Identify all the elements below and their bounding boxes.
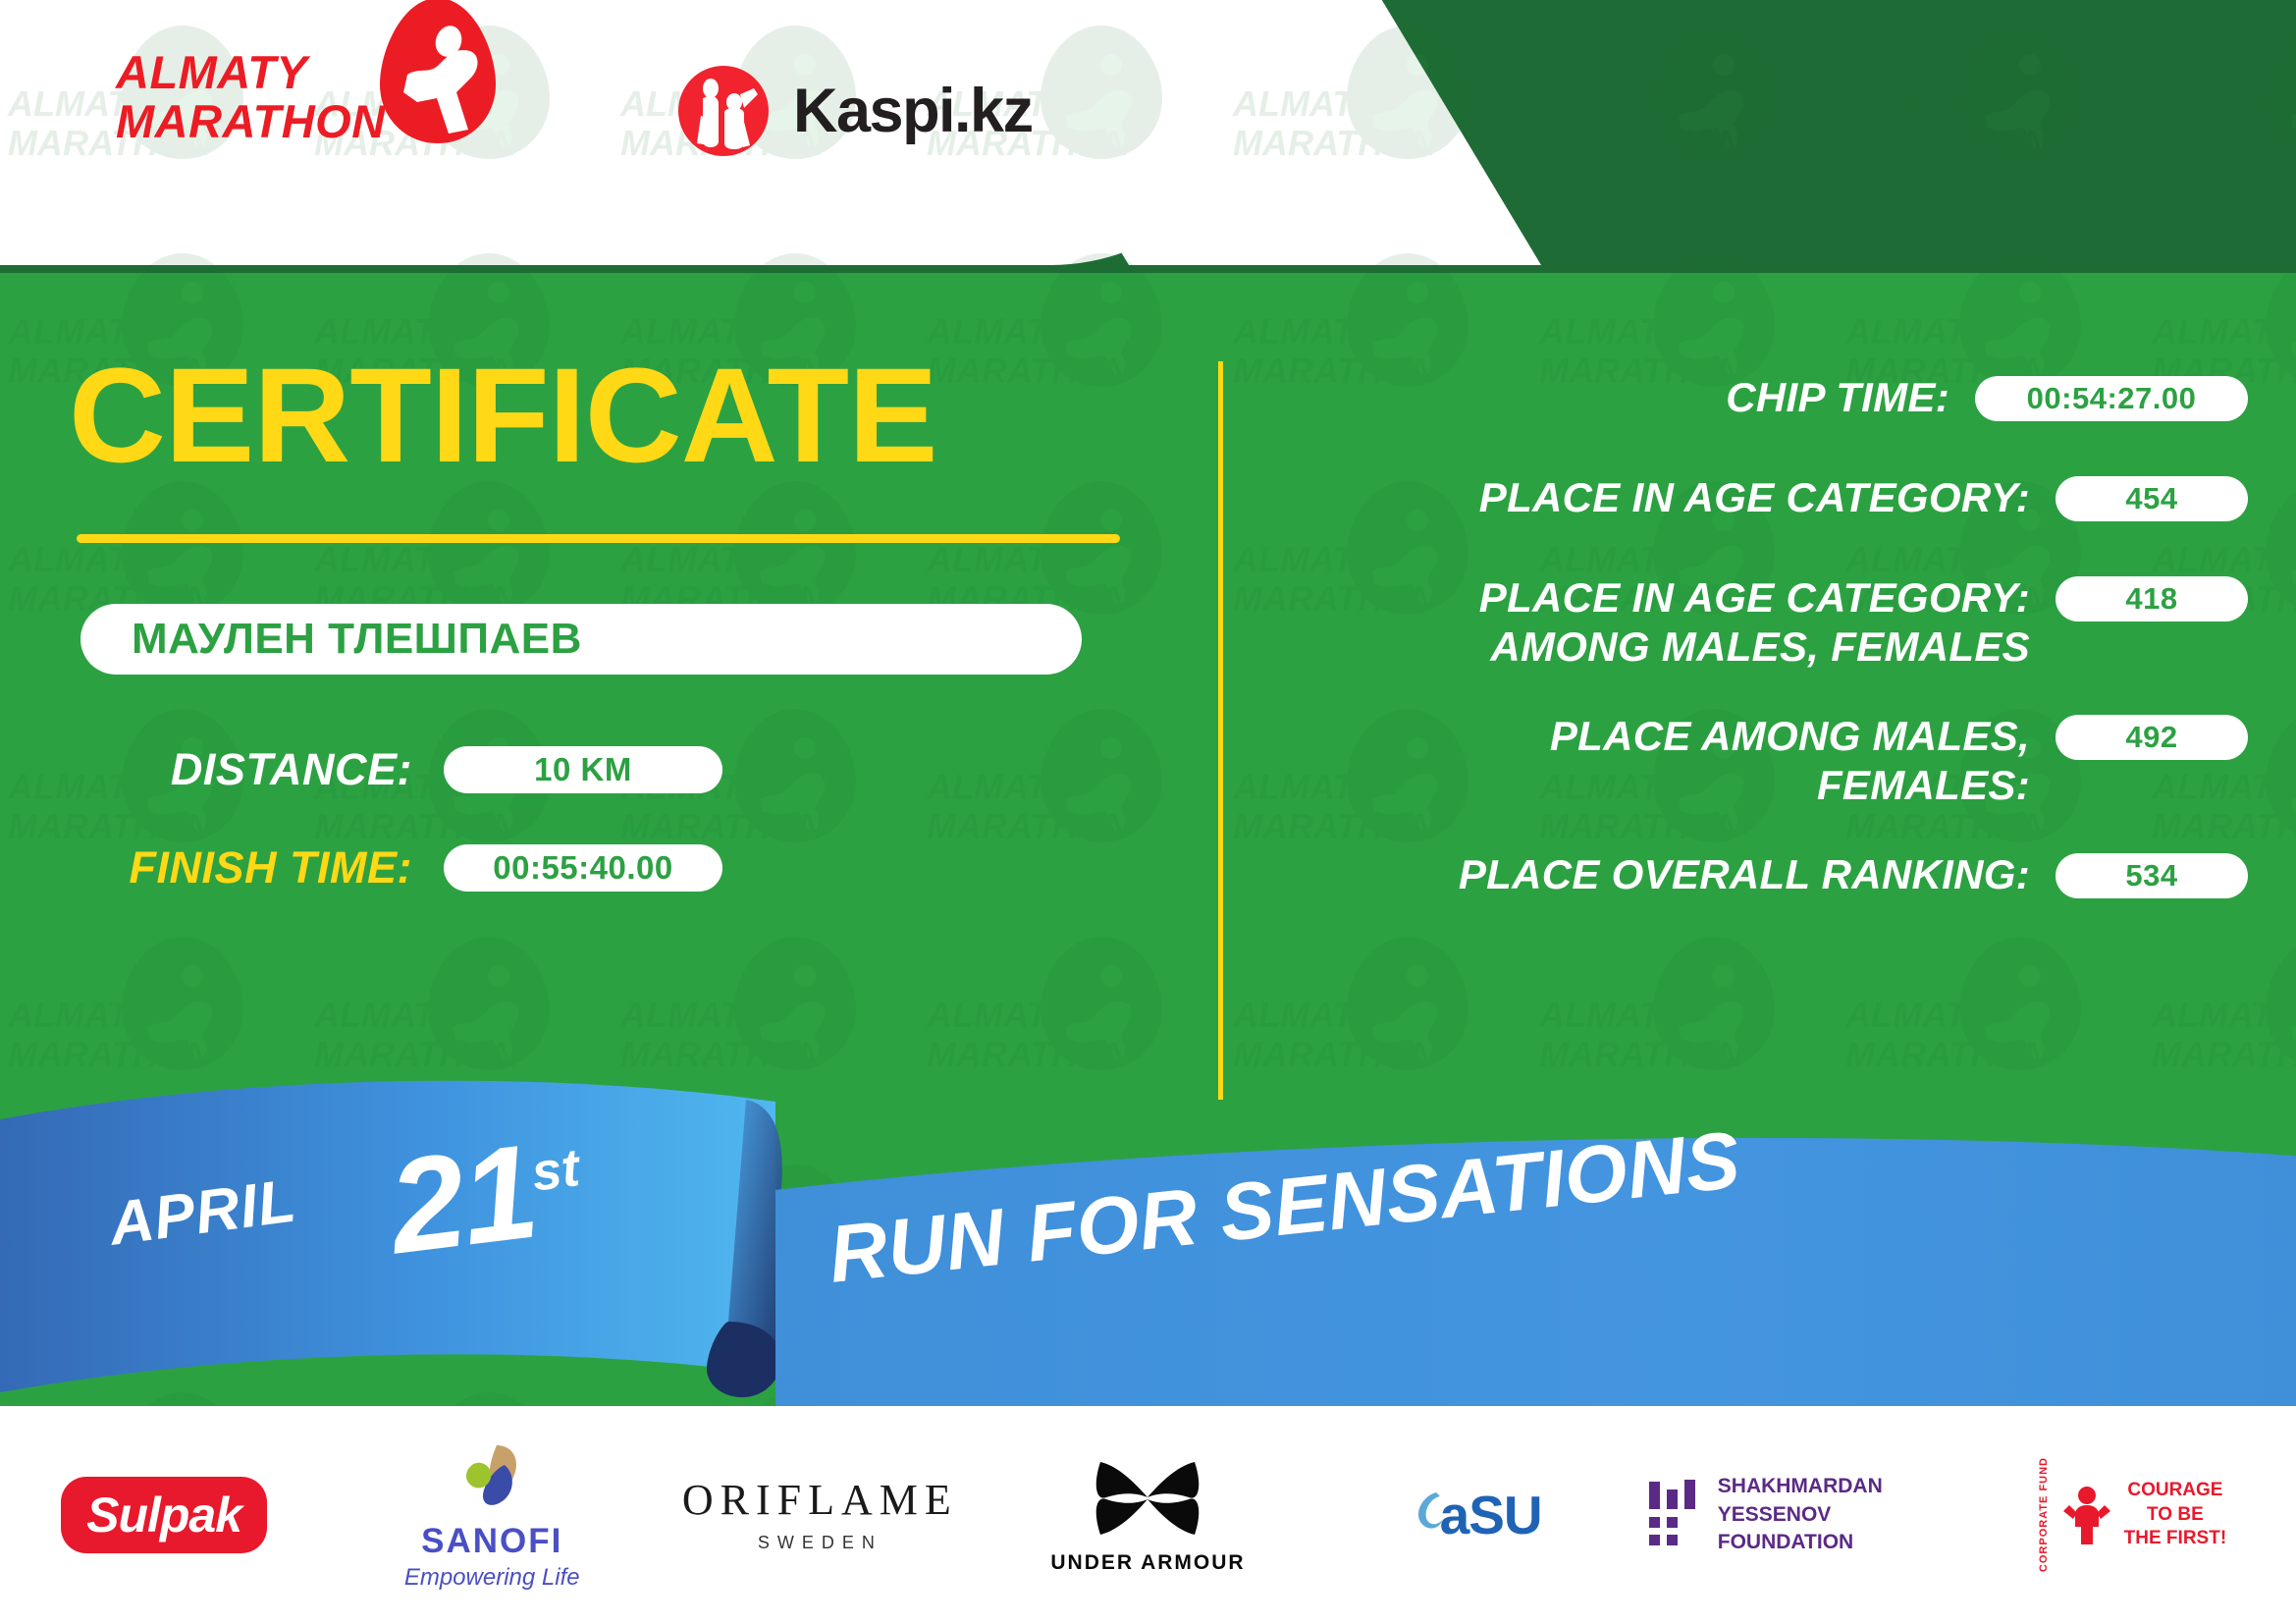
place-among-gender-value: 492	[2125, 720, 2177, 755]
certificate-left-column: CERTIFICATE МАУЛЕН ТЛЕШПАЕВ DISTANCE: 10…	[69, 349, 1148, 936]
ribbon-day: 21st	[381, 1109, 590, 1284]
place-among-gender-value-pill: 492	[2056, 715, 2248, 760]
place-age-category-gender-label-line1: PLACE IN AGE CATEGORY:	[1266, 573, 2030, 623]
finish-time-value: 00:55:40.00	[493, 849, 672, 887]
place-age-category-gender-label: PLACE IN AGE CATEGORY: AMONG MALES, FEMA…	[1266, 573, 2056, 671]
yessenov-foundation-logo: SHAKHMARDAN YESSENOV FOUNDATION	[1645, 1473, 1963, 1556]
sponsor-oriflame: ORIFLAME SWEDEN	[656, 1436, 984, 1594]
courage-fund-logo: CORPORATE FUND COURAGE TO BE THE FIRST!	[2038, 1457, 2227, 1572]
asu-logo: aSU	[1411, 1484, 1542, 1546]
place-age-category-gender-row: PLACE IN AGE CATEGORY: AMONG MALES, FEMA…	[1266, 573, 2248, 671]
courage-fund-line1: COURAGE	[2124, 1479, 2227, 1503]
distance-row: DISTANCE: 10 KM	[80, 739, 1148, 800]
sponsor-asu: aSU	[1312, 1436, 1640, 1594]
oriflame-name: ORIFLAME	[682, 1479, 958, 1522]
place-overall-ranking-value: 534	[2125, 858, 2177, 893]
sponsor-bar: Sulpak SANOFI Empowering Life ORIFLAME S…	[0, 1406, 2296, 1624]
chip-time-row: CHIP TIME: 00:54:27.00	[1266, 373, 2248, 432]
under-armour-name: UNDER ARMOUR	[1050, 1552, 1245, 1573]
kaspi-logo: Kaspi.kz	[677, 65, 1033, 157]
yessenov-line1: SHAKHMARDAN YESSENOV	[1718, 1473, 1963, 1529]
oriflame-tagline: SWEDEN	[682, 1534, 958, 1551]
place-age-category-label: PLACE IN AGE CATEGORY:	[1266, 473, 2056, 522]
sponsor-sanofi: SANOFI Empowering Life	[328, 1436, 656, 1594]
chip-time-value-pill: 00:54:27.00	[1975, 376, 2248, 421]
courage-fund-line2: TO BE	[2124, 1503, 2227, 1528]
vertical-divider	[1218, 361, 1223, 1100]
kaspi-people-icon	[677, 65, 770, 157]
place-among-gender-label-line2: FEMALES:	[1266, 761, 2030, 810]
runner-drop-icon	[374, 0, 502, 149]
courage-fund-line3: THE FIRST!	[2124, 1527, 2227, 1551]
place-overall-ranking-label: PLACE OVERALL RANKING:	[1266, 850, 2056, 899]
sanofi-tagline: Empowering Life	[404, 1566, 580, 1590]
ribbon-day-number: 21	[382, 1116, 544, 1282]
certificate-page: ALMATY MARATHON ALMATY MARATHON	[0, 0, 2296, 1624]
certificate-title: CERTIFICATE	[69, 349, 1148, 483]
under-armour-icon	[1079, 1458, 1216, 1539]
sponsor-yessenov-foundation: SHAKHMARDAN YESSENOV FOUNDATION	[1640, 1436, 1968, 1594]
sponsor-sulpak: Sulpak	[0, 1436, 328, 1594]
place-age-category-value-pill: 454	[2056, 476, 2248, 521]
almaty-logo-line2: MARATHON	[116, 97, 386, 146]
sponsor-under-armour: UNDER ARMOUR	[984, 1436, 1311, 1594]
courage-fund-person-icon	[2059, 1482, 2114, 1548]
kaspi-logo-text: Kaspi.kz	[793, 76, 1033, 146]
oriflame-logo: ORIFLAME SWEDEN	[682, 1479, 958, 1551]
almaty-logo-line1: ALMATY	[116, 48, 386, 97]
distance-label: DISTANCE:	[80, 744, 444, 795]
place-overall-ranking-row: PLACE OVERALL RANKING: 534	[1266, 850, 2248, 909]
sulpak-logo: Sulpak	[61, 1477, 267, 1553]
ribbon-day-suffix: st	[528, 1138, 582, 1202]
certificate-detail-rows: DISTANCE: 10 KM FINISH TIME: 00:55:40.00	[80, 739, 1148, 898]
participant-name-value: МАУЛЕН ТЛЕШПАЕВ	[132, 615, 582, 664]
almaty-marathon-logo: ALMATY MARATHON	[116, 45, 502, 149]
finish-time-value-pill: 00:55:40.00	[444, 844, 722, 892]
place-age-category-row: PLACE IN AGE CATEGORY: 454	[1266, 473, 2248, 532]
distance-value-pill: 10 KM	[444, 746, 722, 793]
yessenov-line2: FOUNDATION	[1718, 1529, 1963, 1556]
sanofi-logo	[454, 1441, 530, 1514]
results-column: CHIP TIME: 00:54:27.00 PLACE IN AGE CATE…	[1266, 373, 2248, 950]
finish-time-row: FINISH TIME: 00:55:40.00	[80, 838, 1148, 898]
sponsor-courage-fund: CORPORATE FUND COURAGE TO BE THE FIRST!	[1968, 1436, 2296, 1594]
yessenov-bars-icon	[1645, 1480, 1704, 1550]
sanofi-name: SANOFI	[404, 1524, 580, 1558]
place-overall-ranking-value-pill: 534	[2056, 853, 2248, 898]
place-among-gender-label: PLACE AMONG MALES, FEMALES:	[1266, 712, 2056, 809]
asu-name: aSU	[1440, 1484, 1542, 1546]
participant-name-field: МАУЛЕН ТЛЕШПАЕВ	[80, 604, 1082, 675]
distance-value: 10 KM	[534, 751, 632, 788]
courage-fund-side-text: CORPORATE FUND	[2038, 1457, 2050, 1572]
place-among-gender-label-line1: PLACE AMONG MALES,	[1266, 712, 2030, 761]
place-age-category-gender-value: 418	[2125, 581, 2177, 617]
chip-time-label: CHIP TIME:	[1266, 373, 1975, 422]
place-among-gender-row: PLACE AMONG MALES, FEMALES: 492	[1266, 712, 2248, 809]
asu-swoosh-icon	[1411, 1487, 1444, 1543]
title-underline-rule	[77, 534, 1120, 543]
chip-time-value: 00:54:27.00	[2027, 381, 2197, 416]
place-age-category-value: 454	[2125, 481, 2177, 516]
place-age-category-gender-value-pill: 418	[2056, 576, 2248, 622]
finish-time-label: FINISH TIME:	[80, 842, 444, 893]
place-age-category-gender-label-line2: AMONG MALES, FEMALES	[1266, 623, 2030, 672]
